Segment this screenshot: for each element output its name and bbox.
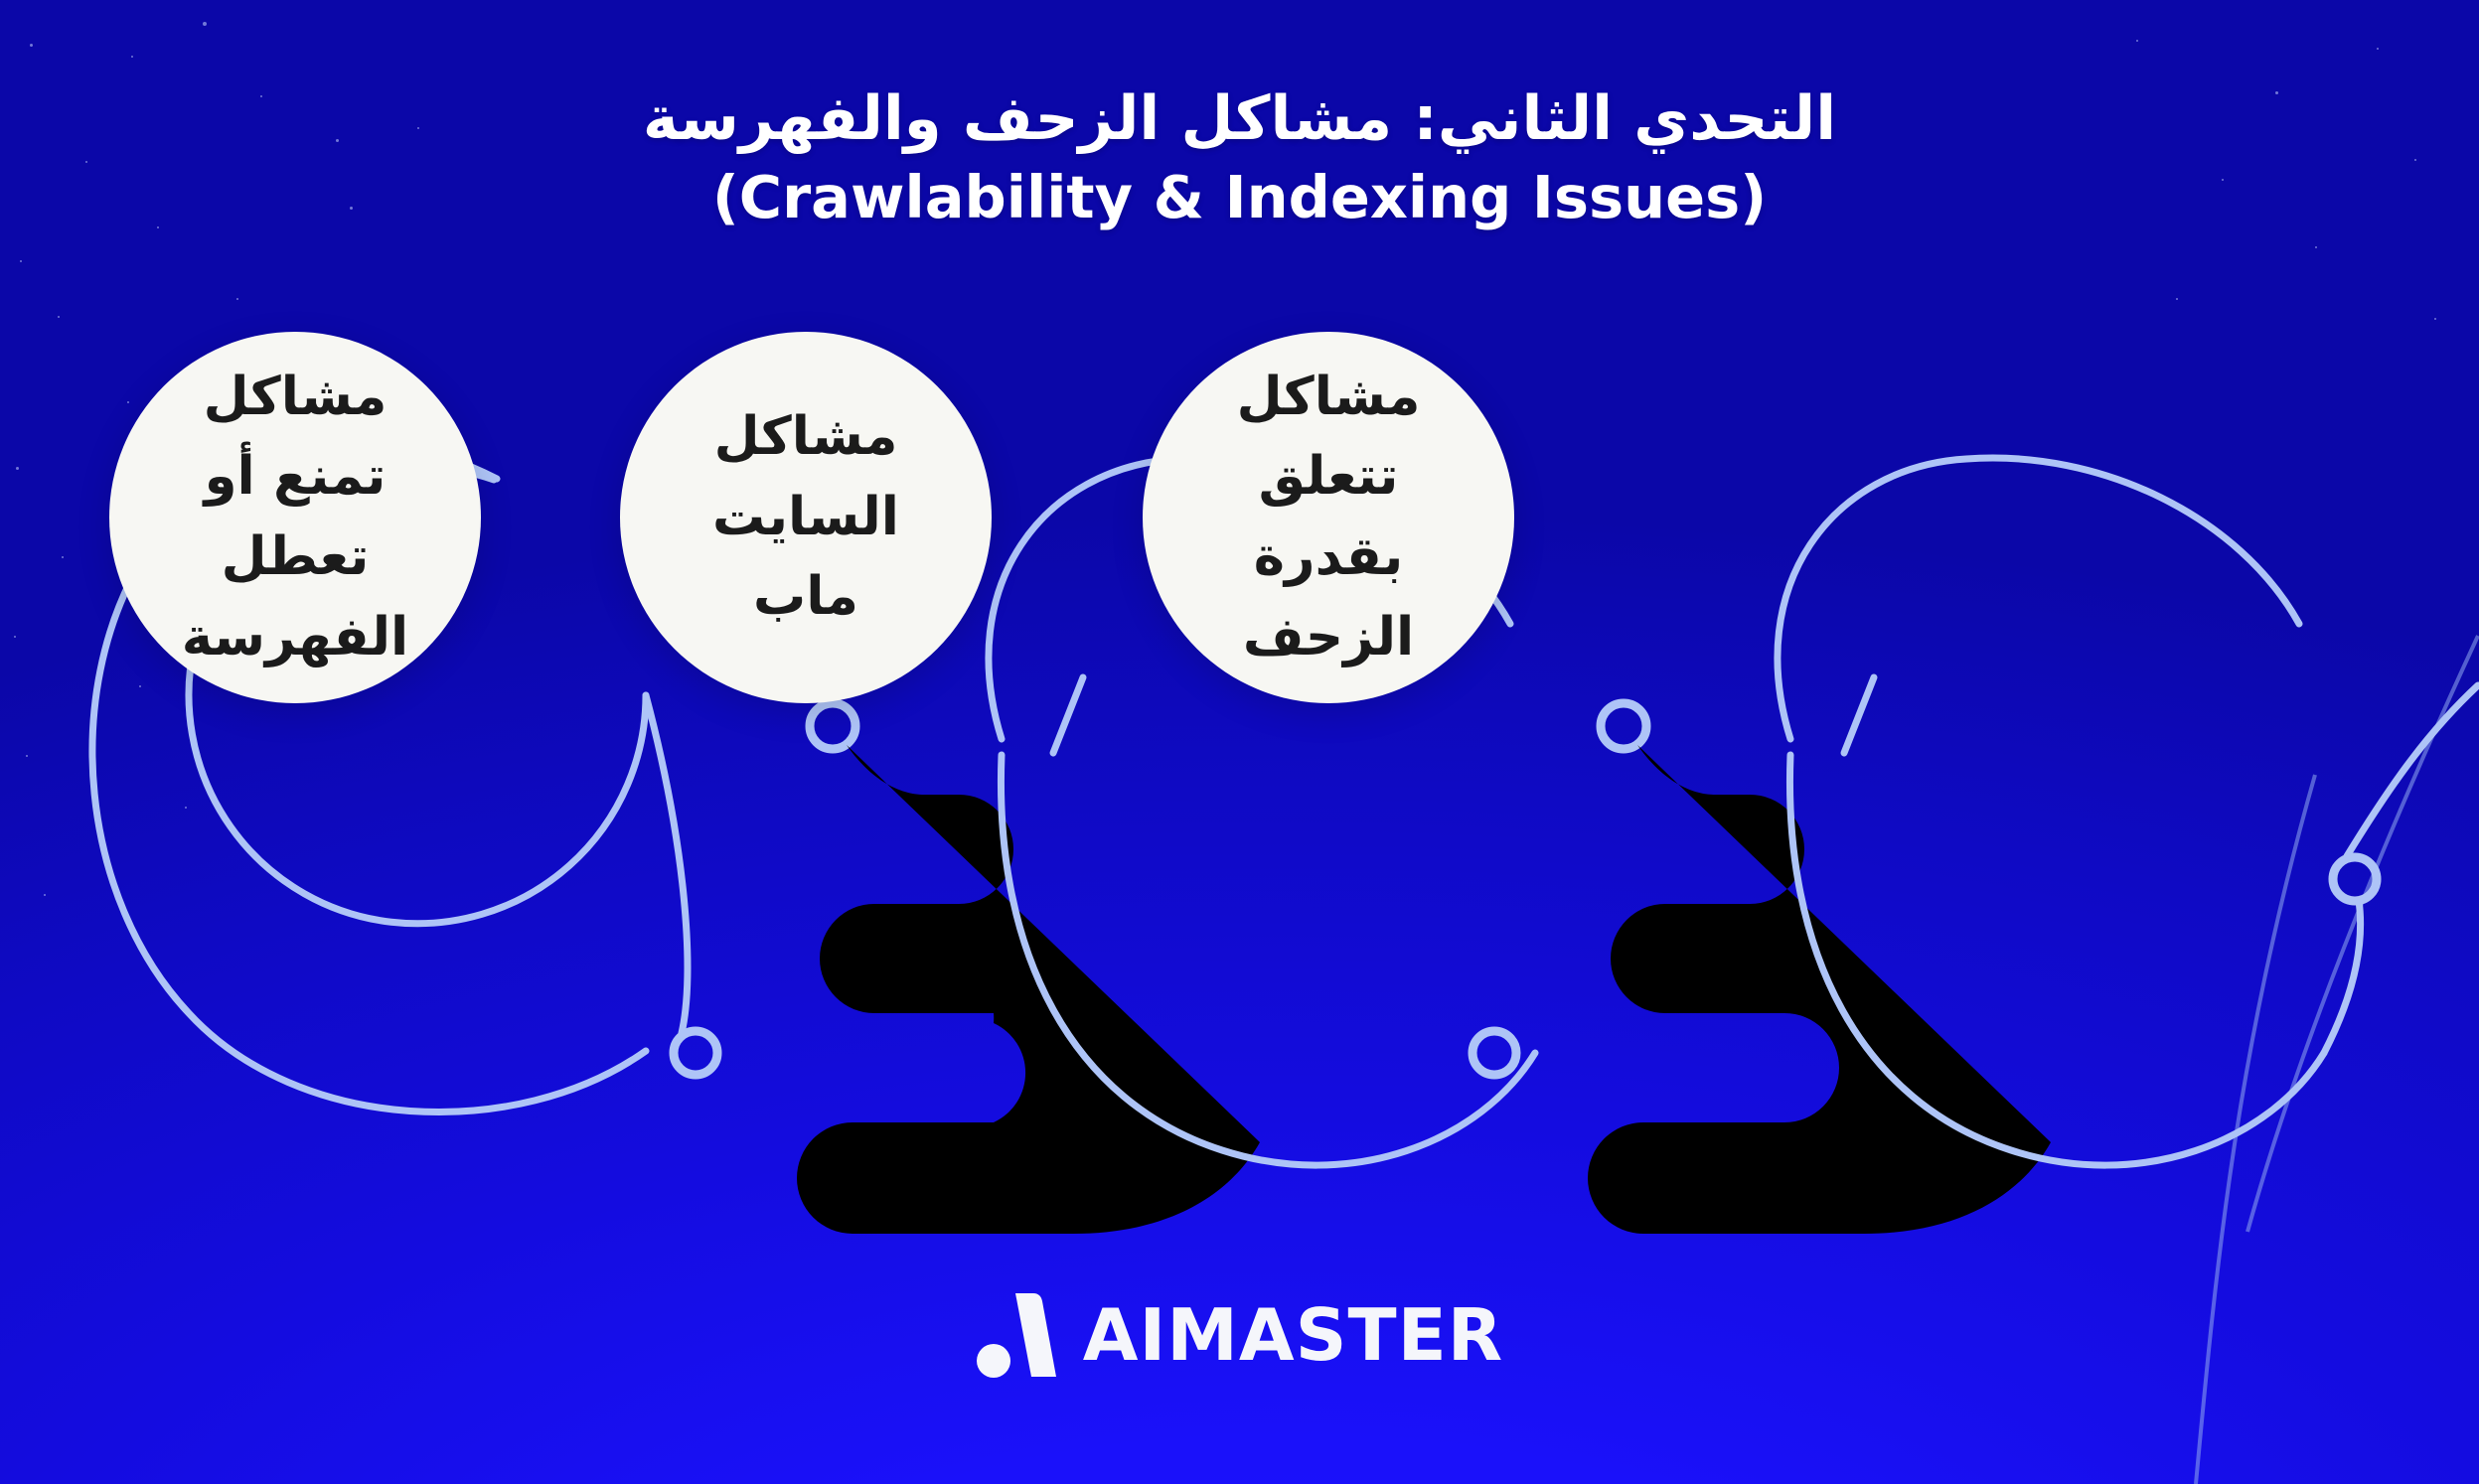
tick-node-2 (1053, 677, 1083, 753)
aimaster-dot-slash-mark-icon (976, 1291, 1057, 1379)
ring-node-icon-2 (1472, 1031, 1516, 1075)
tick-node-3 (1844, 677, 1874, 753)
star-dot-icon (2315, 246, 2317, 248)
heading-block: التحدي الثاني: مشاكل الزحف والفهرسة (Cra… (0, 83, 2479, 232)
concept-node-center-disc[interactable]: مشاكل السايت ماب (620, 332, 992, 703)
ring-node-icon-connector-2 (1601, 703, 1646, 749)
star-dot-icon (14, 636, 16, 638)
star-dot-icon (26, 755, 28, 757)
star-dot-icon (20, 260, 22, 262)
brand-logo[interactable]: AIMASTER (0, 1291, 2479, 1379)
page-title-arabic: التحدي الثاني: مشاكل الزحف والفهرسة (0, 83, 2479, 155)
poster-canvas: .ln { fill:none; stroke:#aec4f7; stroke-… (0, 0, 2479, 1484)
arc-node-3-head (2347, 685, 2478, 856)
ring-node-icon-1 (674, 1031, 717, 1075)
ring-node-icon-3 (2333, 857, 2377, 901)
concept-node-left-label: مشاكل تمنع أو تعطل الفهرسة (109, 358, 481, 677)
page-title-english: (Crawlability & Indexing Issues) (0, 163, 2479, 232)
concept-node-right-label: مشاكل تتعلق بقدرة الزحف (1143, 358, 1514, 677)
concept-node-right-disc[interactable]: مشاكل تتعلق بقدرة الزحف (1143, 332, 1514, 703)
arc-node-3-lower (1789, 755, 2324, 1165)
arc-node-1-tail (646, 695, 688, 1033)
arc-node-3 (1778, 458, 2299, 739)
concept-node-left[interactable]: مشاكل تمنع أو تعطل الفهرسة (68, 290, 505, 727)
star-dot-icon (131, 56, 133, 58)
star-dot-icon (44, 894, 46, 896)
star-dot-icon (2176, 298, 2178, 300)
concept-node-center[interactable]: مشاكل السايت ماب (588, 290, 1025, 727)
star-dot-icon (2136, 40, 2138, 42)
star-dot-icon (16, 467, 19, 470)
star-dot-icon (2434, 318, 2436, 320)
arc-node-2-lower (1001, 755, 1535, 1165)
star-dot-icon (62, 556, 64, 558)
star-dot-icon (2377, 48, 2379, 50)
arc-node-3-tail (2324, 900, 2361, 1053)
background-sweep-line-2 (2247, 636, 2478, 1232)
serpentine-connector-2 (1588, 745, 2051, 1234)
star-dot-icon (203, 22, 207, 26)
concept-node-center-label: مشاكل السايت ماب (620, 397, 992, 638)
concept-node-left-disc[interactable]: مشاكل تمنع أو تعطل الفهرسة (109, 332, 481, 703)
concept-node-right[interactable]: مشاكل تتعلق بقدرة الزحف (1113, 290, 1550, 727)
star-dot-icon (30, 44, 33, 47)
star-dot-icon (185, 807, 187, 809)
brand-name: AIMASTER (1083, 1299, 1503, 1371)
serpentine-connector-1 (797, 745, 1260, 1234)
star-dot-icon (58, 316, 60, 318)
